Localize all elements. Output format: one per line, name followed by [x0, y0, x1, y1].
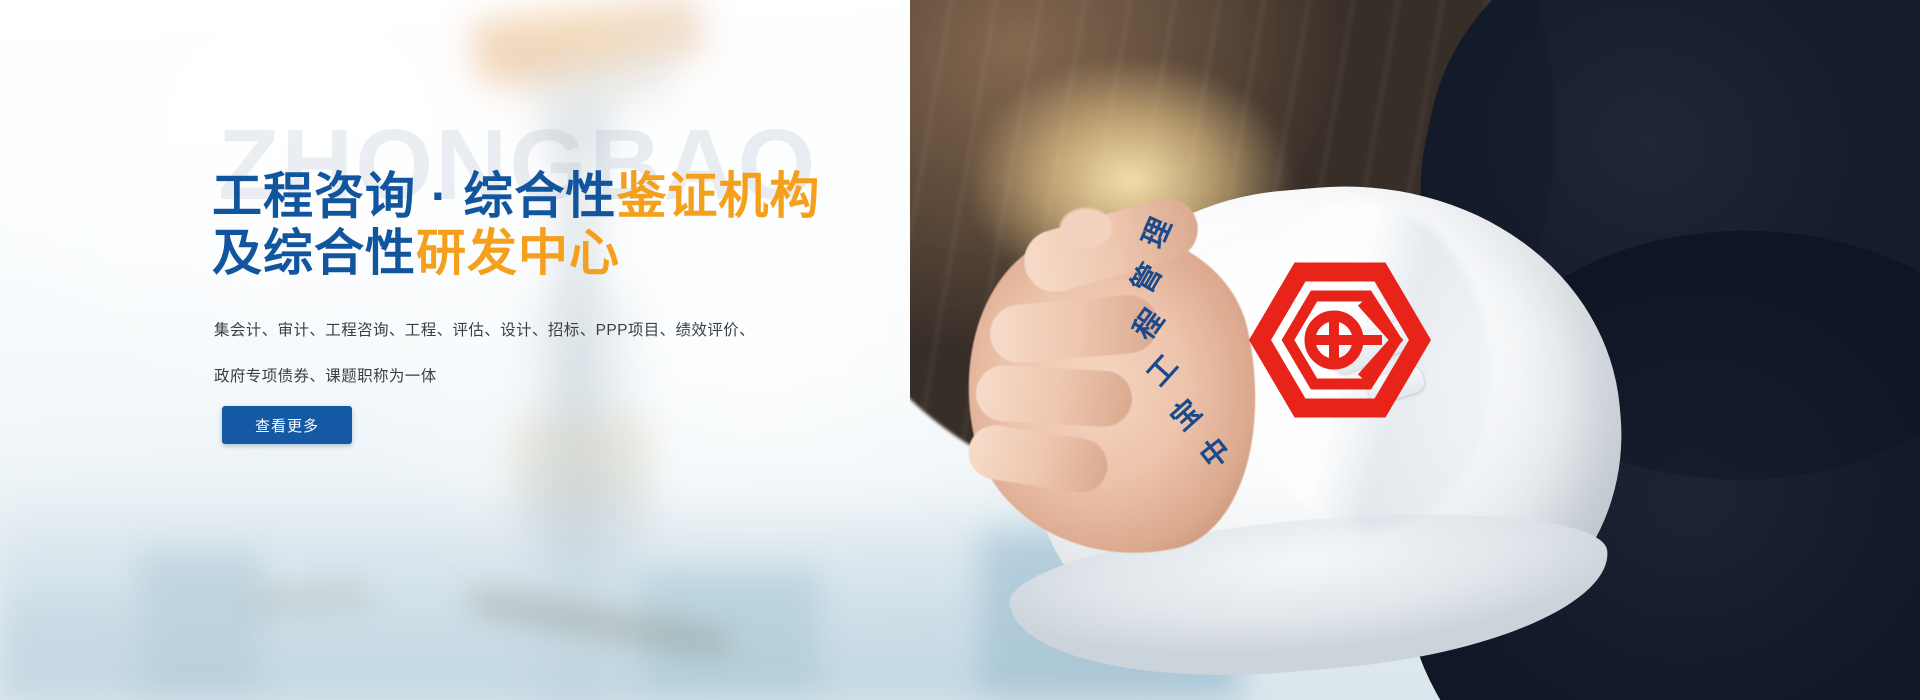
headline-line-1-orange: 鉴证机构	[616, 168, 820, 224]
hand-finger	[975, 364, 1134, 428]
headline-line-2-blue: 及综合性	[212, 225, 416, 281]
hero-banner: 中 宝 工 程 管 理 ZHONGBAO	[0, 0, 1920, 700]
headline-line-1-blue: 工程咨询 · 综合性	[212, 168, 616, 224]
page-title: 工程咨询 · 综合性鉴证机构 及综合性研发中心	[212, 168, 820, 282]
description-line-1: 集会计、审计、工程咨询、工程、评估、设计、招标、PPP项目、绩效评价、	[214, 308, 814, 354]
hand-holding-helmet-photo: 中 宝 工 程 管 理	[910, 0, 1920, 700]
headline-line-2-orange: 研发中心	[416, 225, 620, 281]
hero-description: 集会计、审计、工程咨询、工程、评估、设计、招标、PPP项目、绩效评价、 政府专项…	[214, 308, 814, 399]
description-line-2: 政府专项债券、课题职称为一体	[214, 354, 814, 400]
view-more-button[interactable]: 查看更多	[222, 406, 352, 444]
thumb-nail	[1060, 208, 1112, 248]
headline-line-1: 工程咨询 · 综合性鉴证机构	[212, 168, 820, 225]
headline-line-2: 及综合性研发中心	[212, 225, 820, 282]
hero-content: ZHONGBAO 工程咨询 · 综合性鉴证机构 及综合性研发中心 集会计、审计、…	[0, 0, 900, 700]
